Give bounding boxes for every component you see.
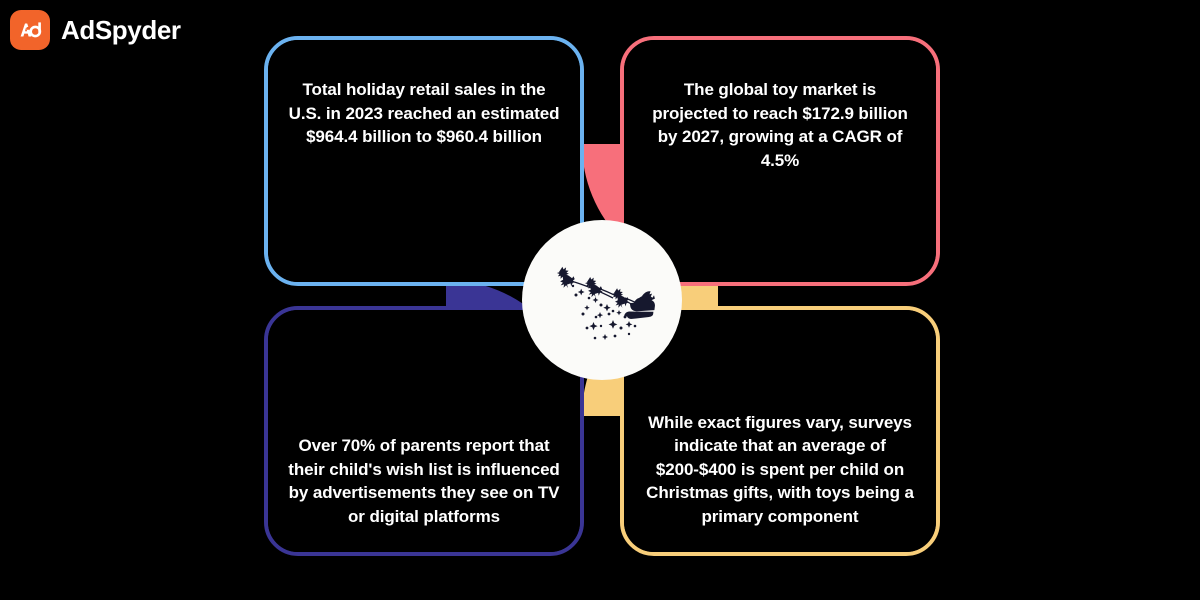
stat-card-text: Over 70% of parents report that their ch…	[288, 434, 560, 528]
stat-card-text: Total holiday retail sales in the U.S. i…	[288, 78, 560, 149]
brand-logo[interactable]: AdSpyder	[10, 8, 181, 52]
card-backdrop	[268, 40, 580, 282]
stat-card-text: While exact figures vary, surveys indica…	[644, 411, 916, 529]
adspyder-mark-icon	[10, 10, 50, 50]
brand-name: AdSpyder	[61, 17, 181, 43]
center-medallion	[522, 220, 682, 380]
infographic-quadrants: Total holiday retail sales in the U.S. i…	[264, 36, 940, 556]
stat-card-top-right[interactable]: The global toy market is projected to re…	[620, 36, 940, 286]
stat-card-top-left[interactable]: Total holiday retail sales in the U.S. i…	[264, 36, 584, 286]
santa-sleigh-reindeer-icon	[543, 248, 661, 352]
stat-card-text: The global toy market is projected to re…	[644, 78, 916, 172]
